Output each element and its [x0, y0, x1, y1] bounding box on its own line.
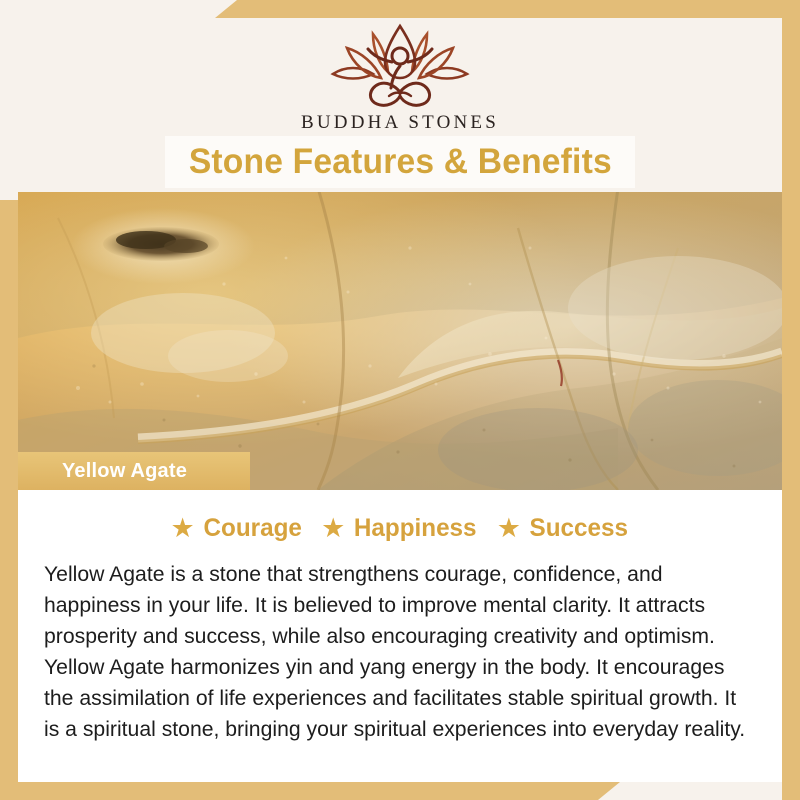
frame-left-mask [0, 0, 18, 200]
benefit-label: Success [530, 514, 628, 543]
frame-band-right [782, 0, 800, 800]
frame-band-top [215, 0, 800, 18]
agate-texture-illustration [18, 188, 782, 490]
infographic-poster: BUDDHA STONES Stone Features & Benefits [0, 0, 800, 800]
benefit-item: ★ Courage [171, 514, 304, 543]
lotus-meditation-icon [325, 22, 475, 110]
content-panel: ★ Courage ★ Happiness ★ Success Yellow A… [18, 490, 782, 782]
benefit-item: ★ Happiness [321, 514, 479, 543]
star-icon: ★ [321, 515, 345, 542]
benefit-item: ★ Success [497, 514, 630, 543]
stone-photo [18, 188, 782, 490]
benefit-label: Courage [203, 514, 301, 543]
stone-name-text: Yellow Agate [62, 460, 187, 483]
page-title: Stone Features & Benefits [188, 142, 611, 182]
title-band: Stone Features & Benefits [18, 136, 782, 192]
stone-name-label: Yellow Agate [18, 452, 250, 490]
brand-header: BUDDHA STONES [18, 0, 782, 143]
frame-band-bottom [0, 782, 620, 800]
title-panel: Stone Features & Benefits [165, 136, 635, 188]
brand-wordmark: BUDDHA STONES [301, 112, 499, 134]
star-icon: ★ [497, 515, 521, 542]
benefits-row: ★ Courage ★ Happiness ★ Success [18, 490, 782, 543]
stone-description: Yellow Agate is a stone that strengthens… [44, 559, 745, 745]
benefit-label: Happiness [354, 514, 477, 543]
star-icon: ★ [171, 515, 195, 542]
